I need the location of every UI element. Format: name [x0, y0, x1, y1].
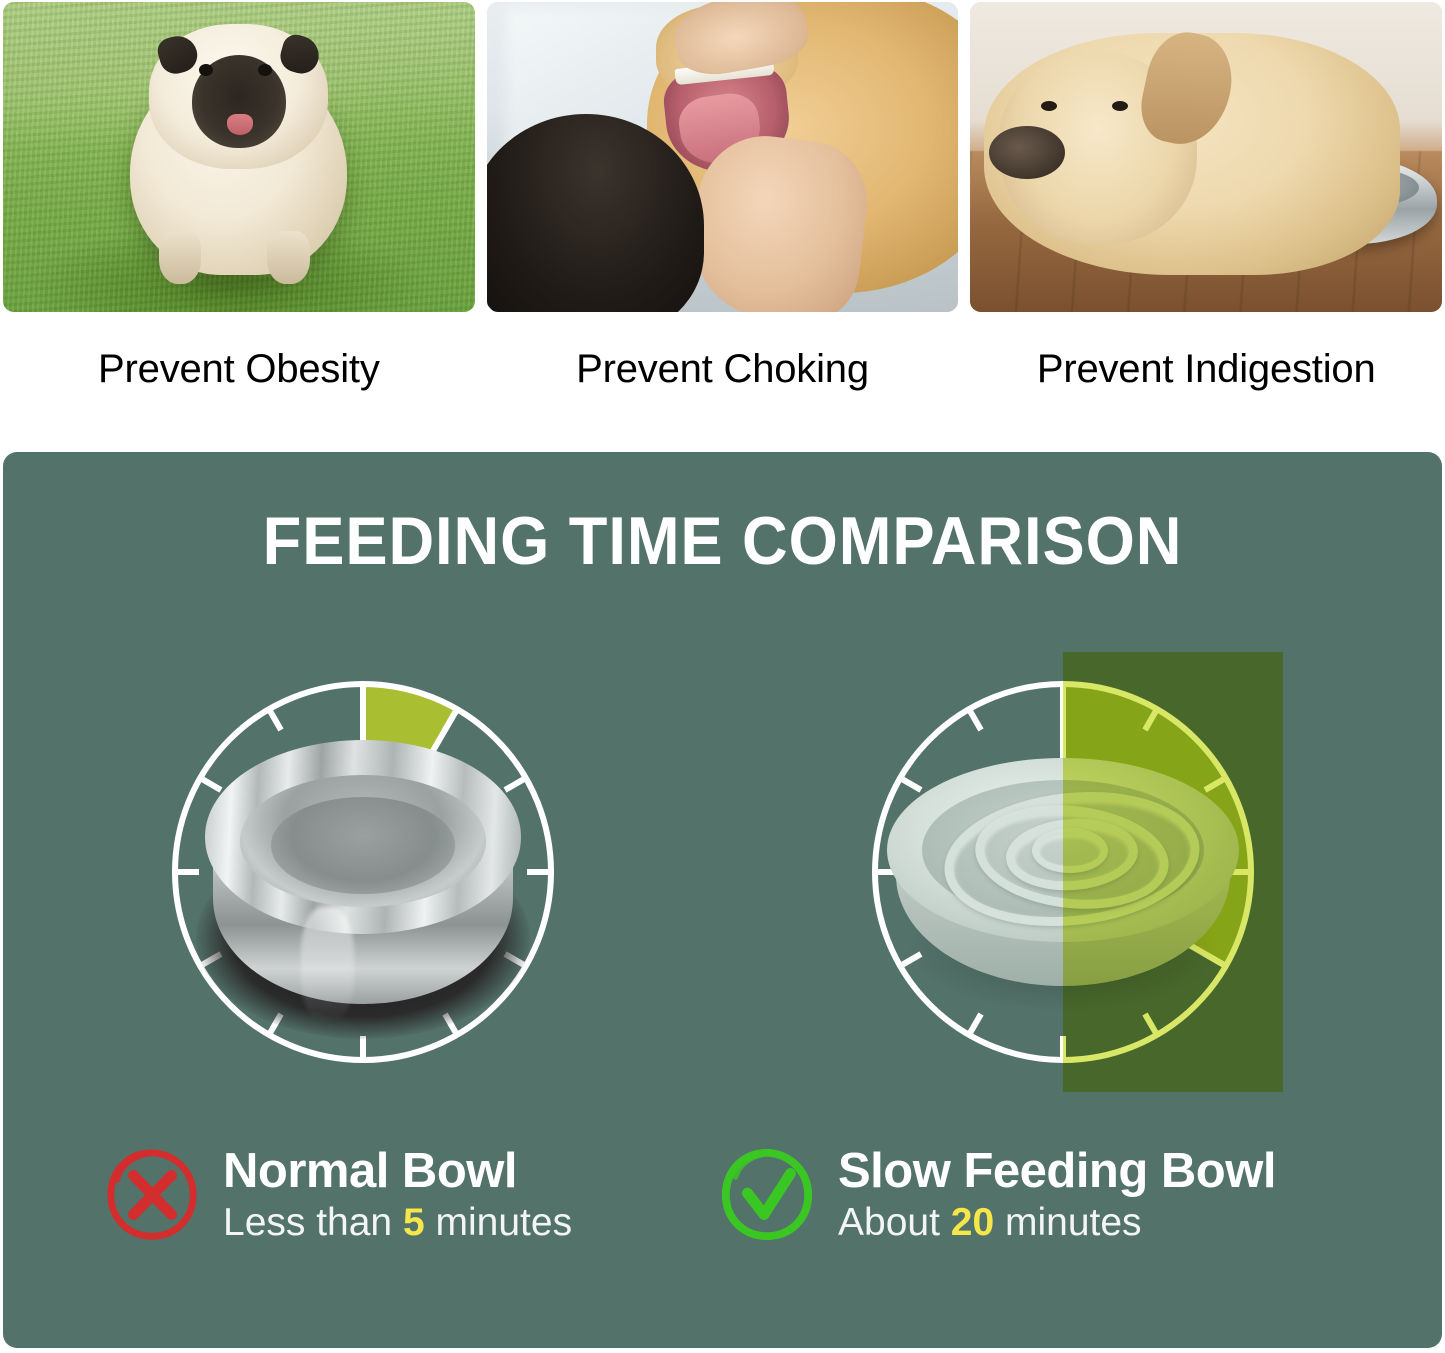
pug-leg-right: [267, 231, 309, 284]
normal-bowl-clock: [143, 652, 583, 1092]
legend-sub-suffix-slow: minutes: [994, 1201, 1141, 1244]
green-circle-check-icon: [718, 1146, 816, 1244]
legend-sub-suffix-normal: minutes: [425, 1201, 572, 1244]
caption-prevent-indigestion: Prevent Indigestion: [970, 338, 1442, 400]
caption-prevent-choking: Prevent Choking: [487, 338, 959, 400]
legend-normal-bowl: Normal Bowl Less than 5 minutes: [103, 1146, 572, 1244]
benefit-card-choking: [487, 2, 959, 312]
legend-sub-number-normal: 5: [403, 1201, 425, 1244]
photo-prevent-indigestion: [970, 2, 1442, 312]
comparison-panel: FEEDING TIME COMPARISON: [3, 452, 1442, 1348]
clock-comparison-row: [3, 652, 1442, 1102]
red-circle-cross-icon: [103, 1146, 201, 1244]
legend-sub-prefix-normal: Less than: [223, 1201, 403, 1244]
pug-leg-left: [159, 231, 201, 284]
legend-slow-feeding-bowl: Slow Feeding Bowl About 20 minutes: [718, 1146, 1276, 1244]
legend-title-normal: Normal Bowl: [223, 1146, 572, 1198]
benefit-card-obesity: [3, 2, 475, 312]
comparison-legend: Normal Bowl Less than 5 minutes Slow Fee…: [3, 1146, 1442, 1276]
labrador-eye-right: [1112, 101, 1128, 111]
clock-center-hub: [350, 859, 376, 885]
clock-dial-normal: [143, 652, 583, 1092]
legend-slow-text: Slow Feeding Bowl About 20 minutes: [838, 1146, 1276, 1243]
benefit-photo-strip: [3, 2, 1442, 312]
labrador-snout: [989, 126, 1064, 179]
legend-sub-prefix-slow: About: [838, 1201, 951, 1244]
photo-prevent-choking: [487, 2, 959, 312]
legend-title-slow: Slow Feeding Bowl: [838, 1146, 1276, 1198]
caption-prevent-obesity: Prevent Obesity: [3, 338, 475, 400]
legend-sub-slow: About 20 minutes: [838, 1202, 1276, 1243]
photo-prevent-obesity: [3, 2, 475, 312]
legend-sub-number-slow: 20: [951, 1201, 994, 1244]
slow-feeding-bowl-clock: [843, 652, 1283, 1092]
legend-sub-normal: Less than 5 minutes: [223, 1202, 572, 1243]
benefit-captions: Prevent Obesity Prevent Choking Prevent …: [3, 338, 1442, 400]
benefit-card-indigestion: [970, 2, 1442, 312]
panel-title: FEEDING TIME COMPARISON: [53, 502, 1391, 580]
legend-normal-text: Normal Bowl Less than 5 minutes: [223, 1146, 572, 1243]
